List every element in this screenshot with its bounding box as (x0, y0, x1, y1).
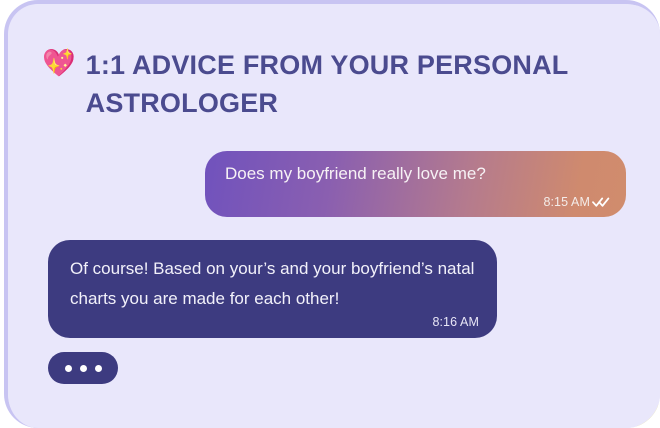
typing-indicator (48, 352, 118, 384)
typing-dot (95, 365, 102, 372)
card-surface: 💖 1:1 ADVICE FROM YOUR PERSONAL ASTROLOG… (8, 4, 660, 428)
screenshot-root: 💖 1:1 ADVICE FROM YOUR PERSONAL ASTROLOG… (0, 0, 660, 428)
chat-thread: Does my boyfriend really love me? 8:15 A… (8, 144, 660, 428)
page-title-text: 1:1 ADVICE FROM YOUR PERSONAL ASTROLOGER (86, 46, 586, 122)
typing-dot (65, 365, 72, 372)
sparkling-heart-icon: 💖 (42, 46, 76, 80)
message-text: Does my boyfriend really love me? (225, 163, 606, 185)
chat-bubble-incoming[interactable]: Of course! Based on your’s and your boyf… (48, 240, 497, 338)
page-title: 💖 1:1 ADVICE FROM YOUR PERSONAL ASTROLOG… (42, 46, 622, 122)
promo-card: 💖 1:1 ADVICE FROM YOUR PERSONAL ASTROLOG… (4, 0, 660, 428)
message-timestamp: 8:15 AM (543, 195, 590, 209)
message-meta: 8:16 AM (432, 313, 479, 331)
chat-bubble-outgoing[interactable]: Does my boyfriend really love me? 8:15 A… (205, 151, 626, 217)
message-timestamp: 8:16 AM (432, 315, 479, 329)
message-text: Of course! Based on your’s and your boyf… (70, 254, 475, 314)
message-meta: 8:15 AM (543, 195, 610, 209)
typing-dot (80, 365, 87, 372)
double-check-icon (592, 196, 610, 208)
